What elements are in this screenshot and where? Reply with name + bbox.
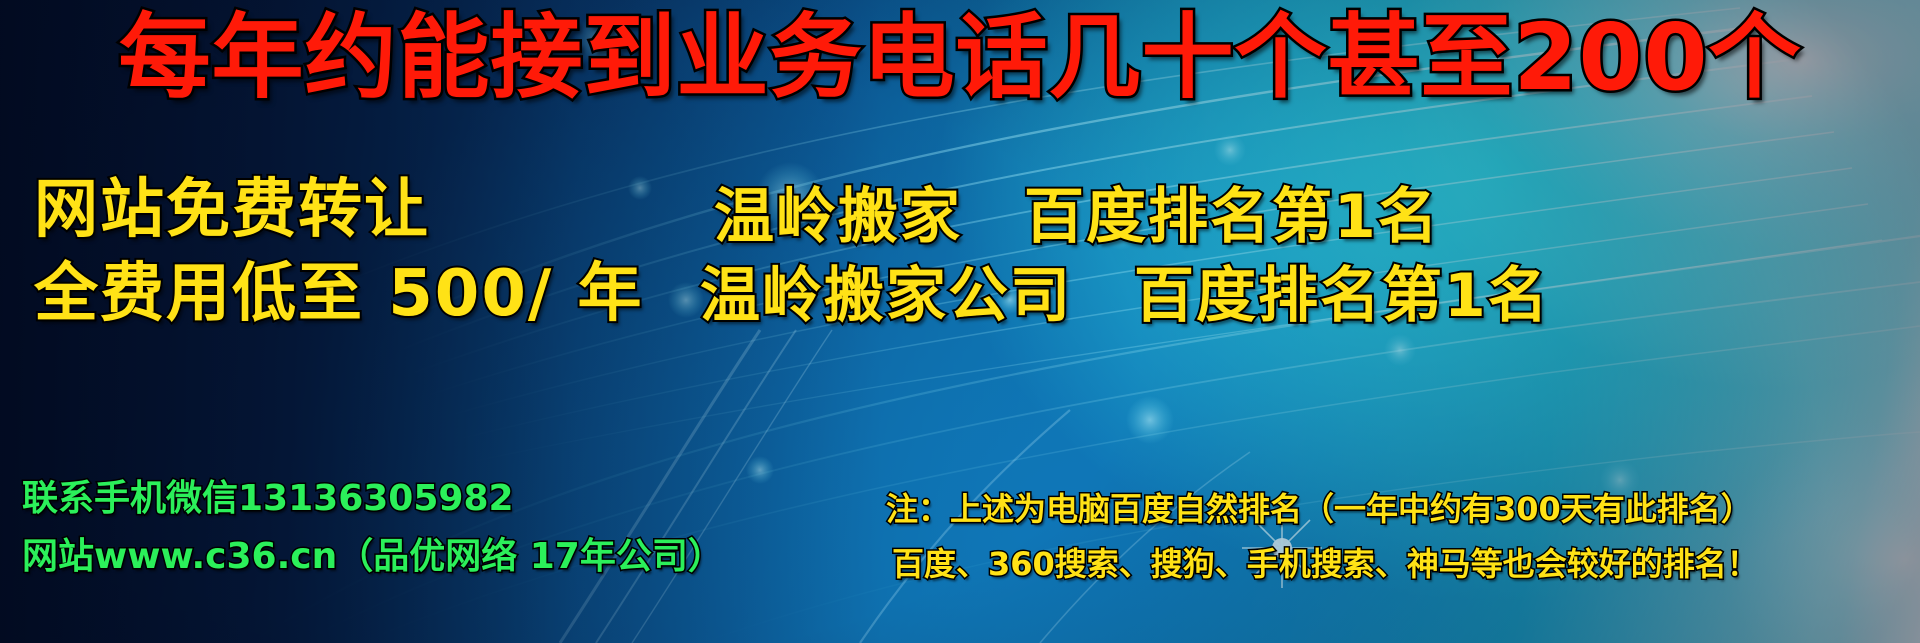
contact-block: 联系手机微信13136305982 网站www.c36.cn（品优网络 17年公… — [22, 470, 722, 587]
ranking-line-wenling-moving: 温岭搬家 百度排名第1名 — [700, 178, 1910, 257]
ranking-line-wenling-moving-company: 温岭搬家公司 百度排名第1名 — [700, 257, 1910, 336]
promo-banner: 每年约能接到业务电话几十个甚至200个 网站免费转让 全费用低至 500/ 年 … — [0, 0, 1920, 643]
note-block: 注：上述为电脑百度自然排名（一年中约有300天有此排名） 百度、360搜索、搜狗… — [886, 482, 1920, 592]
note-line-natural-ranking: 注：上述为电脑百度自然排名（一年中约有300天有此排名） — [886, 482, 1920, 537]
page-title: 每年约能接到业务电话几十个甚至200个 — [0, 8, 1920, 107]
offer-block: 网站免费转让 全费用低至 500/ 年 — [34, 168, 714, 337]
offer-line-price: 全费用低至 500/ 年 — [34, 252, 714, 336]
offer-line-free-transfer: 网站免费转让 — [34, 168, 714, 252]
contact-phone-wechat[interactable]: 联系手机微信13136305982 — [22, 470, 722, 528]
contact-website[interactable]: 网站www.c36.cn（品优网络 17年公司） — [22, 528, 722, 586]
note-line-other-engines: 百度、360搜索、搜狗、手机搜索、神马等也会较好的排名！ — [886, 537, 1920, 592]
ranking-block: 温岭搬家 百度排名第1名 温岭搬家公司 百度排名第1名 — [700, 178, 1910, 336]
